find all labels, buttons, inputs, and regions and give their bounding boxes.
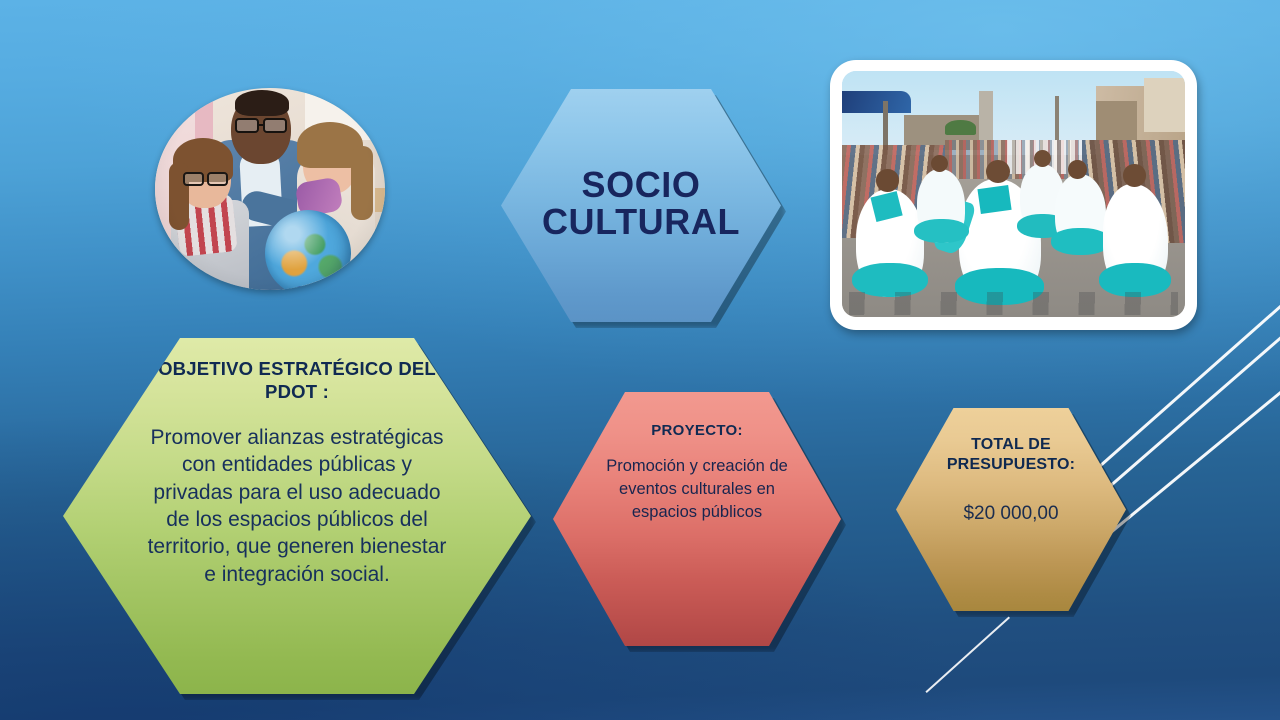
cultural-parade-photo	[830, 60, 1197, 330]
budget-heading: TOTAL DE PRESUPUESTO:	[932, 435, 1090, 474]
budget-amount: $20 000,00	[963, 503, 1058, 525]
teacher-with-globe-photo	[155, 88, 385, 290]
objective-body: Promover alianzas estratégicas con entid…	[147, 424, 447, 588]
project-heading: PROYECTO:	[651, 422, 743, 439]
title-line-1: SOCIO	[581, 165, 700, 206]
title-line-2: CULTURAL	[542, 202, 740, 243]
objective-heading: OBJETIVO ESTRATÉGICO DEL PDOT :	[147, 358, 447, 403]
slide-canvas: SOCIO CULTURAL OBJETIVO ESTRATÉGICO DEL …	[0, 0, 1280, 720]
project-body: Promoción y creación de eventos cultural…	[601, 455, 793, 524]
